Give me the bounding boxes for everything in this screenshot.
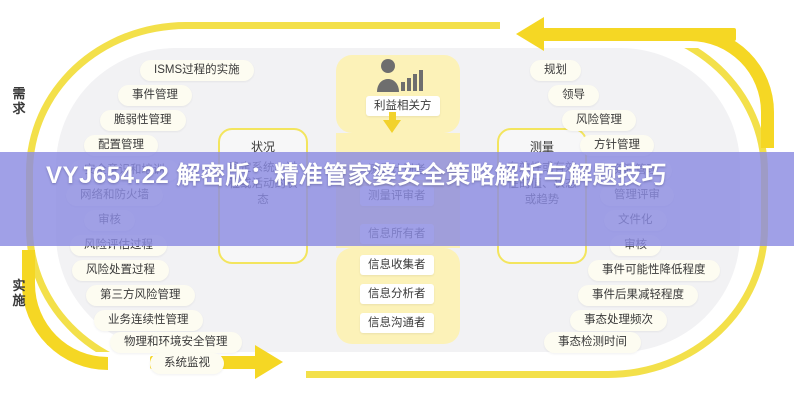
arrow-right-head-icon [255,345,283,379]
implementation-label: 实施 [8,278,30,308]
arrow-left-head-icon [516,17,544,51]
right-pill-2[interactable]: 风险管理 [562,110,636,131]
right-pill-9[interactable]: 事件后果减轻程度 [578,285,698,306]
impl-item-1[interactable]: 信息收集者 [360,255,434,275]
left-pill-12[interactable]: 系统监视 [150,353,224,374]
overlay-title: VYJ654.22 解密版：精准管家婆安全策略解析与解题技巧 [0,160,794,192]
left-pill-11[interactable]: 物理和环境安全管理 [110,332,242,353]
right-pill-0[interactable]: 规划 [530,60,581,81]
left-pill-0[interactable]: ISMS过程的实施 [140,60,254,81]
right-pill-1[interactable]: 领导 [548,85,599,106]
demand-item-0[interactable]: 利益相关方 [366,96,440,116]
left-pill-8[interactable]: 风险处置过程 [72,260,169,281]
person-chart-icon [370,58,426,94]
impl-item-2[interactable]: 信息分析者 [360,284,434,304]
down-arrow-icon [383,120,401,133]
left-pill-2[interactable]: 脆弱性管理 [100,110,186,131]
left-pill-1[interactable]: 事件管理 [118,85,192,106]
arrow-top-shaft [540,28,736,41]
left-pill-10[interactable]: 业务连续性管理 [94,310,203,331]
right-pill-8[interactable]: 事件可能性降低程度 [588,260,720,281]
left-pill-9[interactable]: 第三方风险管理 [86,285,195,306]
right-pill-11[interactable]: 事态检测时间 [544,332,641,353]
diagram-canvas: ISMS过程的实施 事件管理 脆弱性管理 配置管理 安全意识和培训 网络和防火墙… [0,0,794,400]
demand-label: 需求 [8,86,30,116]
right-pill-10[interactable]: 事态处理频次 [570,310,667,331]
impl-item-3[interactable]: 信息沟通者 [360,313,434,333]
